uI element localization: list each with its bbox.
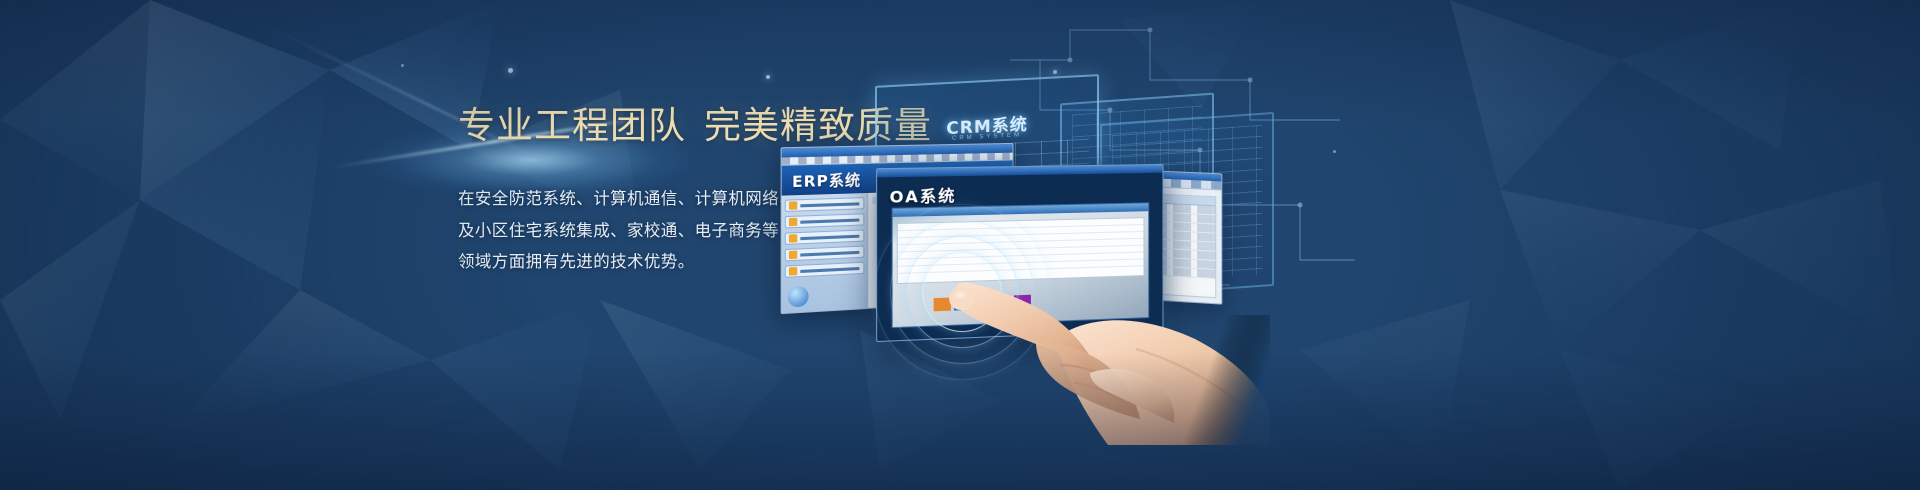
oa-data-grid bbox=[897, 217, 1145, 284]
nav-item[interactable] bbox=[785, 246, 865, 262]
nav-item[interactable] bbox=[785, 213, 865, 228]
particle-dot-icon bbox=[508, 68, 513, 73]
window-oa-title: OA系统 bbox=[890, 182, 957, 208]
nav-item[interactable] bbox=[785, 197, 865, 212]
hero-banner: 专业工程团队完美精致质量 在安全防范系统、计算机通信、计算机网络、智能大厦 及小… bbox=[0, 0, 1920, 490]
nav-icon bbox=[789, 218, 797, 227]
nav-icon bbox=[789, 234, 797, 243]
nav-item[interactable] bbox=[785, 229, 865, 245]
nav-icon bbox=[789, 267, 797, 276]
tile[interactable] bbox=[974, 296, 991, 310]
tile[interactable] bbox=[954, 297, 971, 311]
nav-icon bbox=[789, 201, 797, 209]
window-oa[interactable]: OA系统 bbox=[876, 164, 1163, 342]
tile[interactable] bbox=[934, 298, 951, 312]
nav-icon bbox=[789, 251, 797, 260]
oa-screen bbox=[892, 202, 1150, 328]
headline-part-1: 专业工程团队 bbox=[458, 104, 686, 147]
particle-dot-icon bbox=[1333, 150, 1336, 153]
oa-tile-strip[interactable] bbox=[934, 295, 1031, 312]
particle-dot-icon bbox=[401, 64, 404, 67]
tile[interactable] bbox=[1014, 295, 1031, 309]
title-bar bbox=[877, 165, 1162, 177]
software-window-stack: CRM系统 CRM SYSTEM ERP系统 bbox=[770, 40, 1330, 370]
tile[interactable] bbox=[994, 295, 1011, 309]
nav-item[interactable] bbox=[785, 262, 865, 278]
